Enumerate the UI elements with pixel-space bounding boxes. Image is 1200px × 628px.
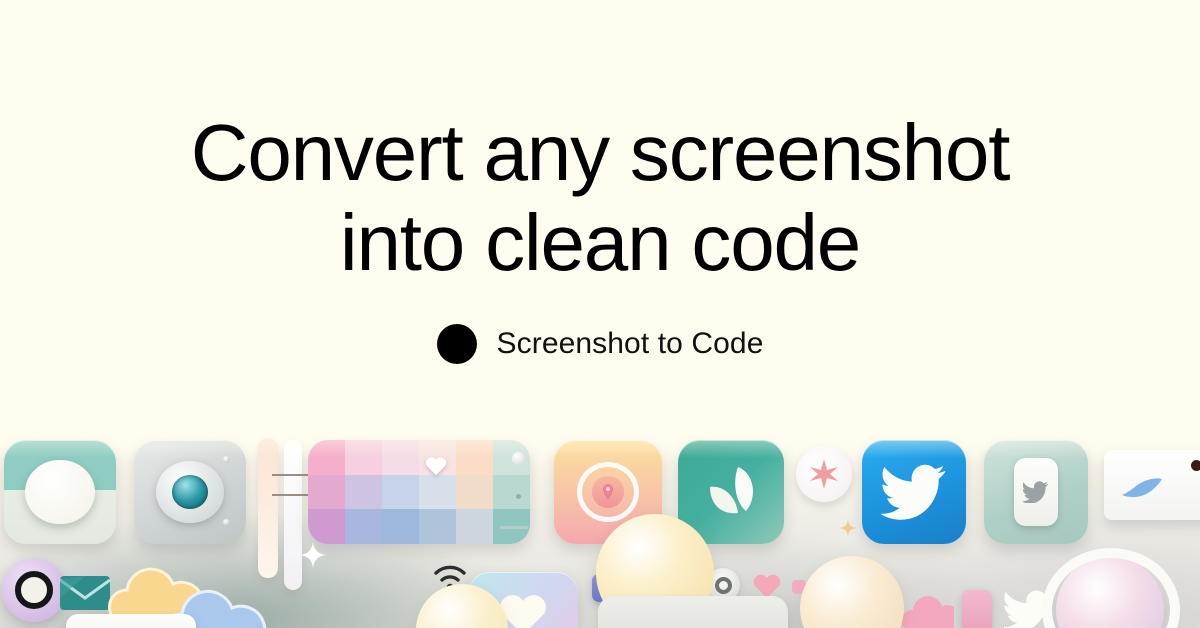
star-icon [807, 457, 841, 491]
heart-icon [425, 456, 447, 476]
promo-banner: Convert any screenshot into clean code S… [0, 0, 1200, 628]
line-icon [500, 526, 528, 529]
blue-bird-icon [1122, 476, 1164, 504]
dot-icon [516, 494, 521, 499]
sparkle-icon [300, 542, 326, 568]
brand-name: Screenshot to Code [497, 327, 764, 361]
dot-icon [1191, 460, 1200, 471]
white-card-tile [1104, 450, 1200, 520]
twitter-bird-icon [881, 464, 947, 520]
camera-icon [156, 461, 223, 523]
panel-tile [66, 614, 196, 628]
leaf-icon [698, 463, 764, 521]
card-surface [1014, 458, 1058, 527]
circle-icon [25, 460, 94, 524]
camera-sensor-icon [223, 519, 230, 526]
strip-fade [0, 412, 1200, 458]
brand-lockup: Screenshot to Code [0, 324, 1200, 364]
cloud-icon-pink [902, 594, 954, 628]
app-icon [962, 590, 992, 628]
panel-tile [598, 596, 788, 628]
logo-circle-icon [437, 324, 477, 364]
bird-icon [1023, 481, 1049, 503]
bar-icon [258, 438, 278, 578]
location-pin-icon [577, 462, 640, 522]
decorative-icon-strip [0, 438, 1200, 628]
pin-glyph-icon [600, 483, 616, 501]
sparkle-icon [840, 520, 856, 536]
camera-lens-icon [172, 475, 209, 509]
page-title: Convert any screenshot into clean code [0, 108, 1200, 288]
hero-section: Convert any screenshot into clean code S… [0, 0, 1200, 364]
